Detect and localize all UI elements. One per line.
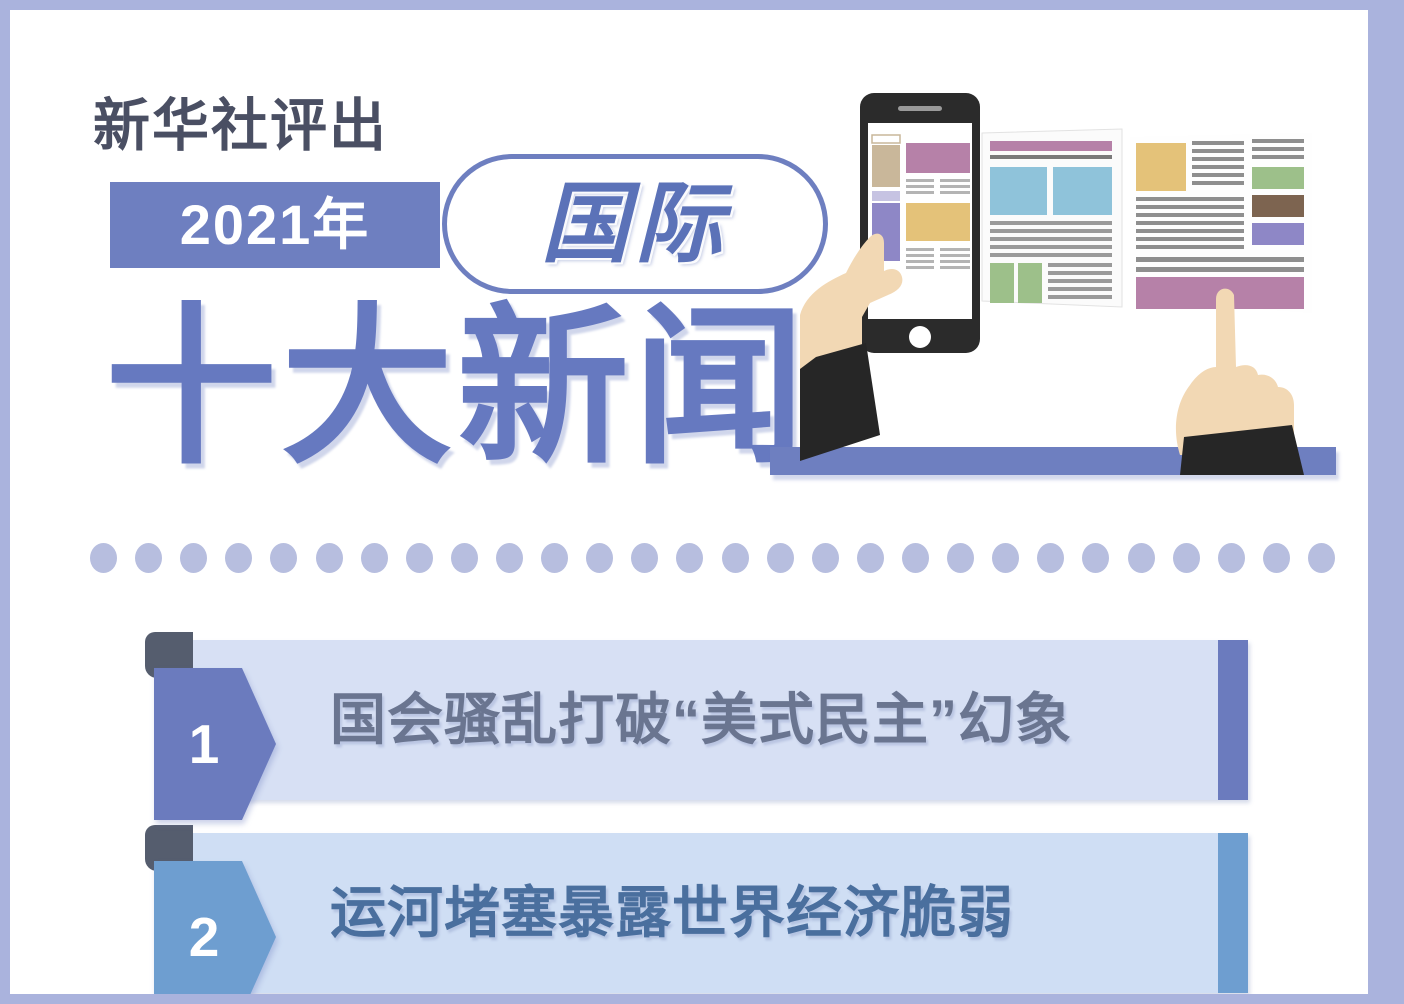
news-item-accent [1218, 833, 1248, 993]
divider-dot [90, 543, 117, 573]
divider-dot [812, 543, 839, 573]
news-item-headline: 运河堵塞暴露世界经济脆弱 [330, 833, 1014, 993]
divider-dot [541, 543, 568, 573]
divider-dot [1128, 543, 1155, 573]
divider-dot [992, 543, 1019, 573]
news-item[interactable]: 2 运河堵塞暴露世界经济脆弱 [10, 825, 1368, 993]
divider-dot [225, 543, 252, 573]
news-item-number: 2 [154, 861, 254, 994]
divider-dot [947, 543, 974, 573]
page-kicker: 新华社评出 [93, 98, 388, 155]
divider-dot [1173, 543, 1200, 573]
divider-dot [316, 543, 343, 573]
divider-dot [451, 543, 478, 573]
divider-dot [631, 543, 658, 573]
hand-phone-news-illustration [800, 85, 1340, 475]
divider-dot [496, 543, 523, 573]
divider-dot [1037, 543, 1064, 573]
divider-dot [902, 543, 929, 573]
divider-dot [361, 543, 388, 573]
news-item-number: 1 [154, 668, 254, 820]
divider-dot [1263, 543, 1290, 573]
page-canvas: 新华社评出 2021年 国际 十大新闻 [10, 10, 1368, 994]
divider-dot [1082, 543, 1109, 573]
divider-dot [180, 543, 207, 573]
infographic-page: 新华社评出 2021年 国际 十大新闻 [0, 0, 1404, 1004]
news-item[interactable]: 1 国会骚乱打破“美式民主”幻象 [10, 632, 1368, 800]
divider-dot [767, 543, 794, 573]
dot-divider [90, 542, 1335, 574]
news-list: 1 国会骚乱打破“美式民主”幻象 2 运河堵塞暴露世界经济脆弱 [10, 632, 1368, 994]
category-badge-label: 国际 [442, 154, 828, 294]
divider-dot [1218, 543, 1245, 573]
news-item-headline: 国会骚乱打破“美式民主”幻象 [330, 640, 1072, 800]
divider-dot [676, 543, 703, 573]
divider-dot [586, 543, 613, 573]
divider-dot [1308, 543, 1335, 573]
divider-dot [270, 543, 297, 573]
year-label: 2021年 [110, 182, 440, 268]
divider-dot [857, 543, 884, 573]
divider-dot [406, 543, 433, 573]
divider-dot [135, 543, 162, 573]
news-item-accent [1218, 640, 1248, 800]
divider-dot [722, 543, 749, 573]
page-title: 十大新闻 [105, 302, 809, 474]
